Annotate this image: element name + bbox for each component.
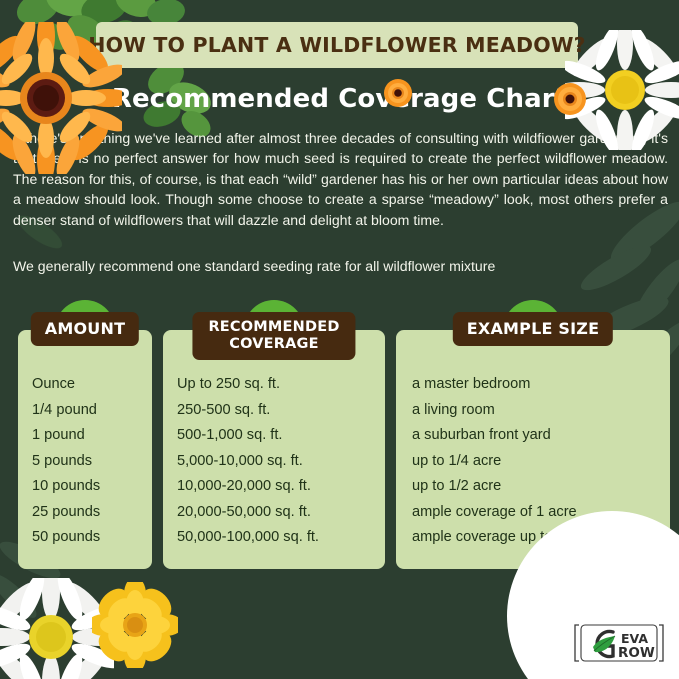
table-cell: up to 1/2 acre bbox=[396, 474, 670, 500]
table-cell: Up to 250 sq. ft. bbox=[163, 372, 385, 398]
table-cell: 50,000-100,000 sq. ft. bbox=[163, 525, 385, 551]
column-header-line-1: RECOMMENDED bbox=[208, 319, 339, 336]
table-cell: a master bedroom bbox=[396, 372, 670, 398]
table-cell: a suburban front yard bbox=[396, 423, 670, 449]
table-cell: 5,000-10,000 sq. ft. bbox=[163, 449, 385, 475]
recommendation-paragraph: We generally recommend one standard seed… bbox=[13, 256, 668, 276]
table-cell: Ounce bbox=[18, 372, 152, 398]
column-header-line-2: COVERAGE bbox=[208, 336, 339, 353]
small-orange-flower-subtitle-icon bbox=[383, 78, 413, 108]
table-cell: 250-500 sq. ft. bbox=[163, 398, 385, 424]
column-header-example-size: EXAMPLE SIZE bbox=[453, 312, 613, 346]
table-cell: up to 1/4 acre bbox=[396, 449, 670, 475]
logo-text-eva: EVA bbox=[621, 631, 648, 646]
column-header-amount: AMOUNT bbox=[31, 312, 139, 346]
table-cell: 20,000-50,000 sq. ft. bbox=[163, 500, 385, 526]
column-header-recommended-coverage: RECOMMENDED COVERAGE bbox=[192, 312, 355, 360]
title-banner: HOW TO PLANT A WILDFLOWER MEADOW? bbox=[96, 22, 578, 68]
table-cell: 5 pounds bbox=[18, 449, 152, 475]
card-body-amount: Ounce 1/4 pound 1 pound 5 pounds 10 poun… bbox=[18, 330, 152, 569]
small-orange-flower-icon bbox=[553, 82, 587, 116]
table-cell: 50 pounds bbox=[18, 525, 152, 551]
table-cell: 25 pounds bbox=[18, 500, 152, 526]
yellow-coreopsis-flower-icon bbox=[92, 582, 178, 668]
table-cell: 1 pound bbox=[18, 423, 152, 449]
table-cell: 10,000-20,000 sq. ft. bbox=[163, 474, 385, 500]
logo-text-row: ROW bbox=[618, 645, 655, 661]
orange-calendula-flower-icon bbox=[0, 22, 122, 174]
table-cell: a living room bbox=[396, 398, 670, 424]
eva-grow-logo: EVA ROW bbox=[571, 619, 667, 667]
table-cell: 10 pounds bbox=[18, 474, 152, 500]
page-subtitle: Recommended Coverage Chart bbox=[112, 84, 567, 114]
infographic-page: HOW TO PLANT A WILDFLOWER MEADOW? Recomm… bbox=[0, 0, 679, 679]
table-cell: 500-1,000 sq. ft. bbox=[163, 423, 385, 449]
card-body-recommended-coverage: Up to 250 sq. ft. 250-500 sq. ft. 500-1,… bbox=[163, 330, 385, 569]
page-title: HOW TO PLANT A WILDFLOWER MEADOW? bbox=[88, 33, 586, 57]
table-cell: 1/4 pound bbox=[18, 398, 152, 424]
